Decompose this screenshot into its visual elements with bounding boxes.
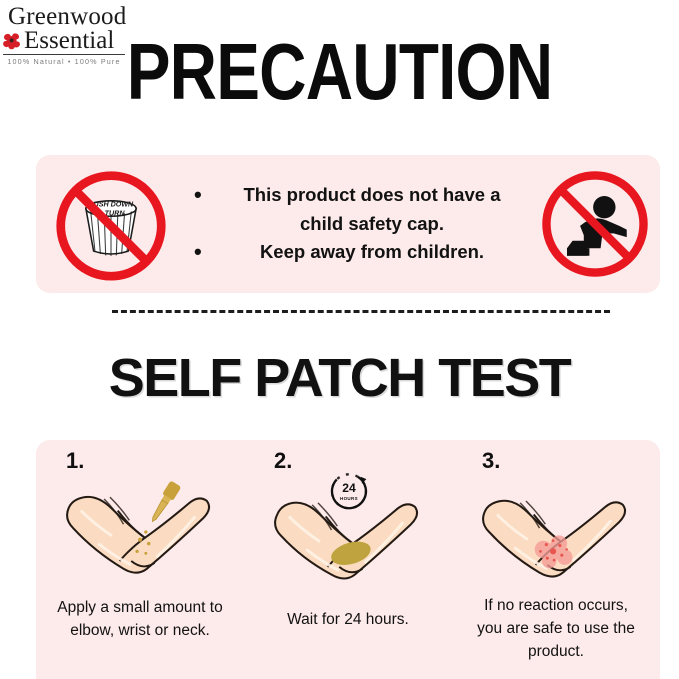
elbow-with-oil-patch-icon: 24 HOURS bbox=[244, 472, 452, 590]
precaution-panel: PUSH DOWN & TURN • This product does not… bbox=[36, 155, 660, 293]
bullet-glyph: • bbox=[192, 238, 222, 266]
list-item: • Keep away from children. bbox=[192, 238, 528, 267]
page-title-self-patch-test: SELF PATCH TEST bbox=[0, 348, 679, 408]
badge-value: 24 bbox=[342, 481, 356, 495]
patch-step-1: 1. bbox=[36, 440, 244, 679]
no-children-crawling-baby-icon bbox=[530, 168, 660, 280]
self-patch-test-panel: 1. bbox=[36, 440, 660, 679]
patch-step-2: 2. bbox=[244, 440, 452, 679]
dashed-divider bbox=[112, 310, 610, 313]
step-caption: Wait for 24 hours. bbox=[244, 590, 452, 631]
list-item: • This product does not have a child saf… bbox=[192, 181, 528, 238]
precaution-text-1: This product does not have a child safet… bbox=[222, 181, 528, 238]
step-caption: If no reaction occurs, you are safe to u… bbox=[452, 590, 660, 663]
precaution-text-2: Keep away from children. bbox=[222, 238, 528, 267]
patch-step-3: 3. bbox=[452, 440, 660, 679]
bullet-glyph: • bbox=[192, 181, 222, 209]
precaution-bullet-list: • This product does not have a child saf… bbox=[186, 181, 530, 267]
elbow-with-dropper-icon bbox=[36, 472, 244, 590]
no-child-safety-cap-icon: PUSH DOWN & TURN bbox=[36, 166, 186, 282]
infographic-page: Greenwood Essential 100% Natural bbox=[0, 0, 679, 679]
brand-name-line1: Greenwood bbox=[2, 4, 126, 29]
flower-icon bbox=[2, 31, 22, 51]
page-title-precaution: PRECAUTION bbox=[61, 32, 618, 112]
step-caption: Apply a small amount to elbow, wrist or … bbox=[36, 590, 244, 642]
elbow-with-rash-icon bbox=[452, 472, 660, 590]
badge-unit: HOURS bbox=[340, 496, 358, 501]
